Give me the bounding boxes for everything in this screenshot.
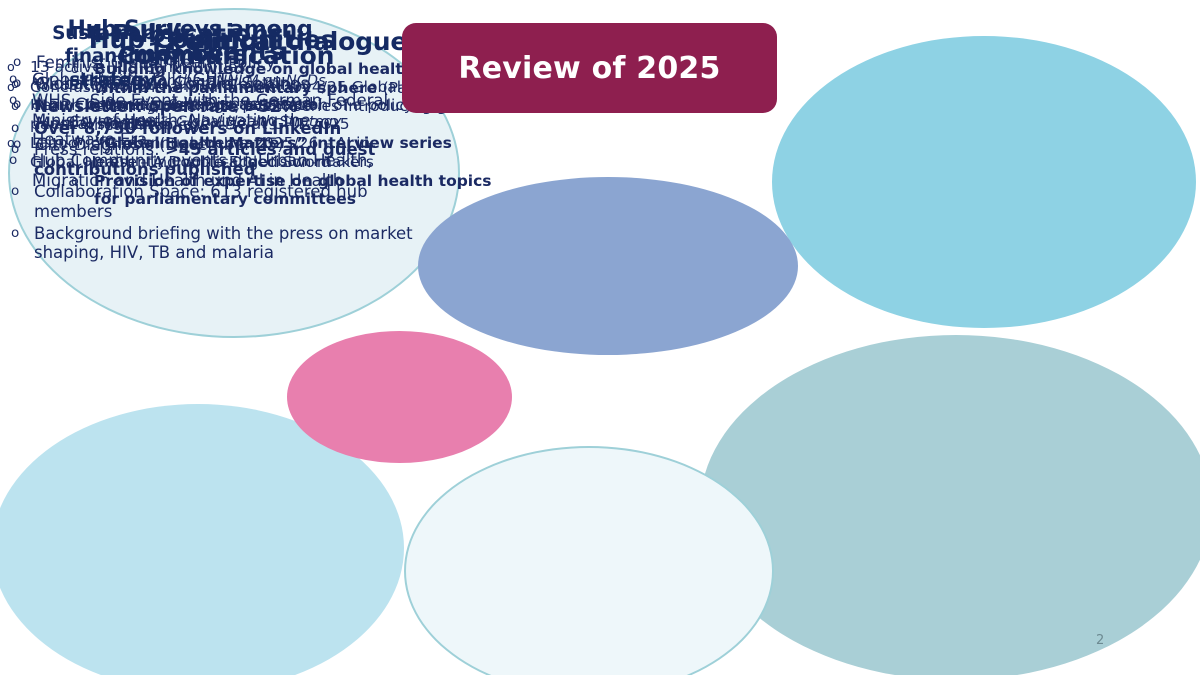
sustainable-financing-content: Sustainable financing strategy [22,22,203,92]
list-item: Background briefing with the press on ma… [8,224,444,264]
list-item-text: Background briefing with the press on ma… [34,224,413,263]
list-item-text: Follow-up survey on the Federal Governme… [69,97,342,130]
list-item-text: Hub Community events on Urban Health, Mi… [32,151,373,190]
list-item: City Diagnosis (December 25) [10,135,360,155]
list-item-text: City Diagnosis (December 25) [36,135,284,154]
sustainable-financing-title: Sustainable financing strategy [22,22,203,92]
page-number: 2 [1096,633,1104,648]
list-item: Follow-up survey on the Federal Governme… [24,97,356,132]
bubble-hub-communities [772,36,1196,328]
bubble-hub-surveys [418,177,798,355]
page-title: Review of 2025 [458,51,720,86]
bubble-sustainable-financing [287,331,512,463]
bubble-political-dialogue [700,335,1200,675]
slide-canvas: Communication Website: ⌀3,000 visitors/m… [0,0,1200,675]
slide-title-banner: Review of 2025 [402,23,777,113]
list-item: Hub Community events on Urban Health, Mi… [6,151,396,191]
